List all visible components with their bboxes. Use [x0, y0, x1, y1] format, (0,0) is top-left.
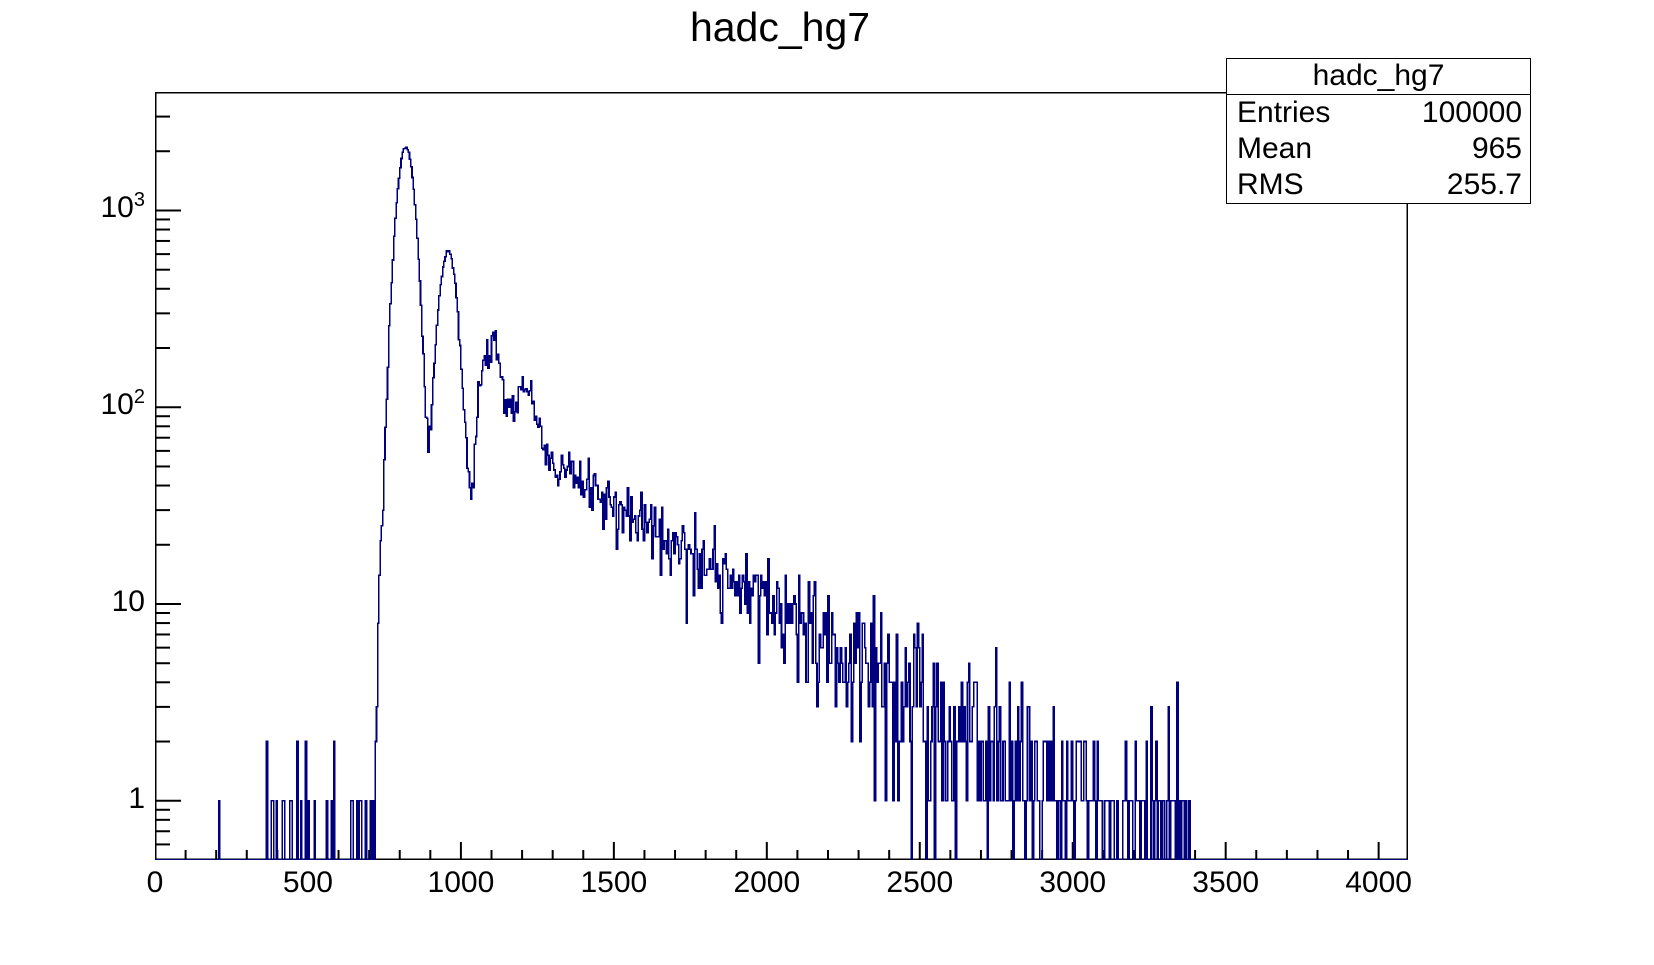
plot-frame [155, 92, 1408, 860]
x-tick-label: 1000 [428, 866, 495, 900]
stats-row-entries: Entries 100000 [1227, 95, 1530, 131]
stats-value-rms: 255.7 [1447, 167, 1522, 203]
y-tick-label: 102 [101, 388, 146, 422]
y-tick-label: 1 [128, 782, 145, 816]
y-tick-label: 103 [101, 191, 146, 225]
stats-title: hadc_hg7 [1227, 59, 1530, 95]
histogram-plot [155, 92, 1408, 860]
x-tick-label: 4000 [1345, 866, 1412, 900]
stats-box: hadc_hg7 Entries 100000 Mean 965 RMS 255… [1226, 58, 1531, 204]
x-tick-label: 2000 [733, 866, 800, 900]
x-tick-label: 2500 [886, 866, 953, 900]
stats-key-entries: Entries [1237, 95, 1330, 131]
stats-value-entries: 100000 [1422, 95, 1522, 131]
page-title: hadc_hg7 [0, 4, 1560, 51]
root-canvas: hadc_hg7 hadc_hg7 Entries 100000 Mean 96… [0, 0, 1654, 965]
y-tick-label: 10 [112, 585, 145, 619]
stats-key-rms: RMS [1237, 167, 1304, 203]
stats-row-mean: Mean 965 [1227, 131, 1530, 167]
x-tick-label: 3500 [1192, 866, 1259, 900]
x-tick-label: 500 [283, 866, 333, 900]
stats-row-rms: RMS 255.7 [1227, 167, 1530, 203]
stats-value-mean: 965 [1472, 131, 1522, 167]
x-tick-label: 3000 [1039, 866, 1106, 900]
x-tick-label: 1500 [580, 866, 647, 900]
stats-key-mean: Mean [1237, 131, 1312, 167]
x-tick-label: 0 [147, 866, 164, 900]
